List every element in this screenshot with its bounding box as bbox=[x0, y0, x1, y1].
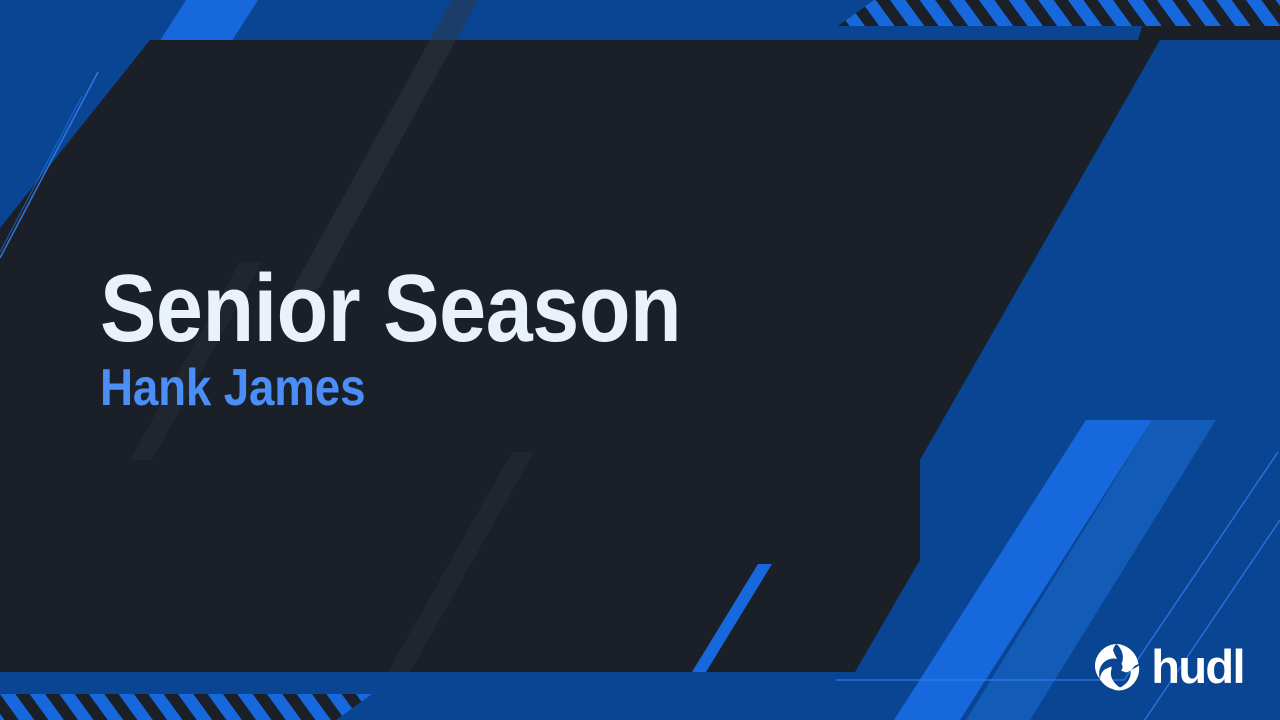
hudl-wordmark: hudl bbox=[1151, 643, 1244, 690]
title-block: Senior Season Hank James bbox=[100, 262, 760, 414]
hatch-band-top-right bbox=[838, 0, 1280, 26]
player-name: Hank James bbox=[100, 362, 681, 414]
hudl-logo[interactable]: hudl bbox=[1092, 642, 1244, 692]
page-title: Senior Season bbox=[100, 262, 681, 356]
slide-canvas: Senior Season Hank James hudl bbox=[0, 0, 1280, 720]
hudl-pinwheel-icon bbox=[1092, 642, 1142, 692]
